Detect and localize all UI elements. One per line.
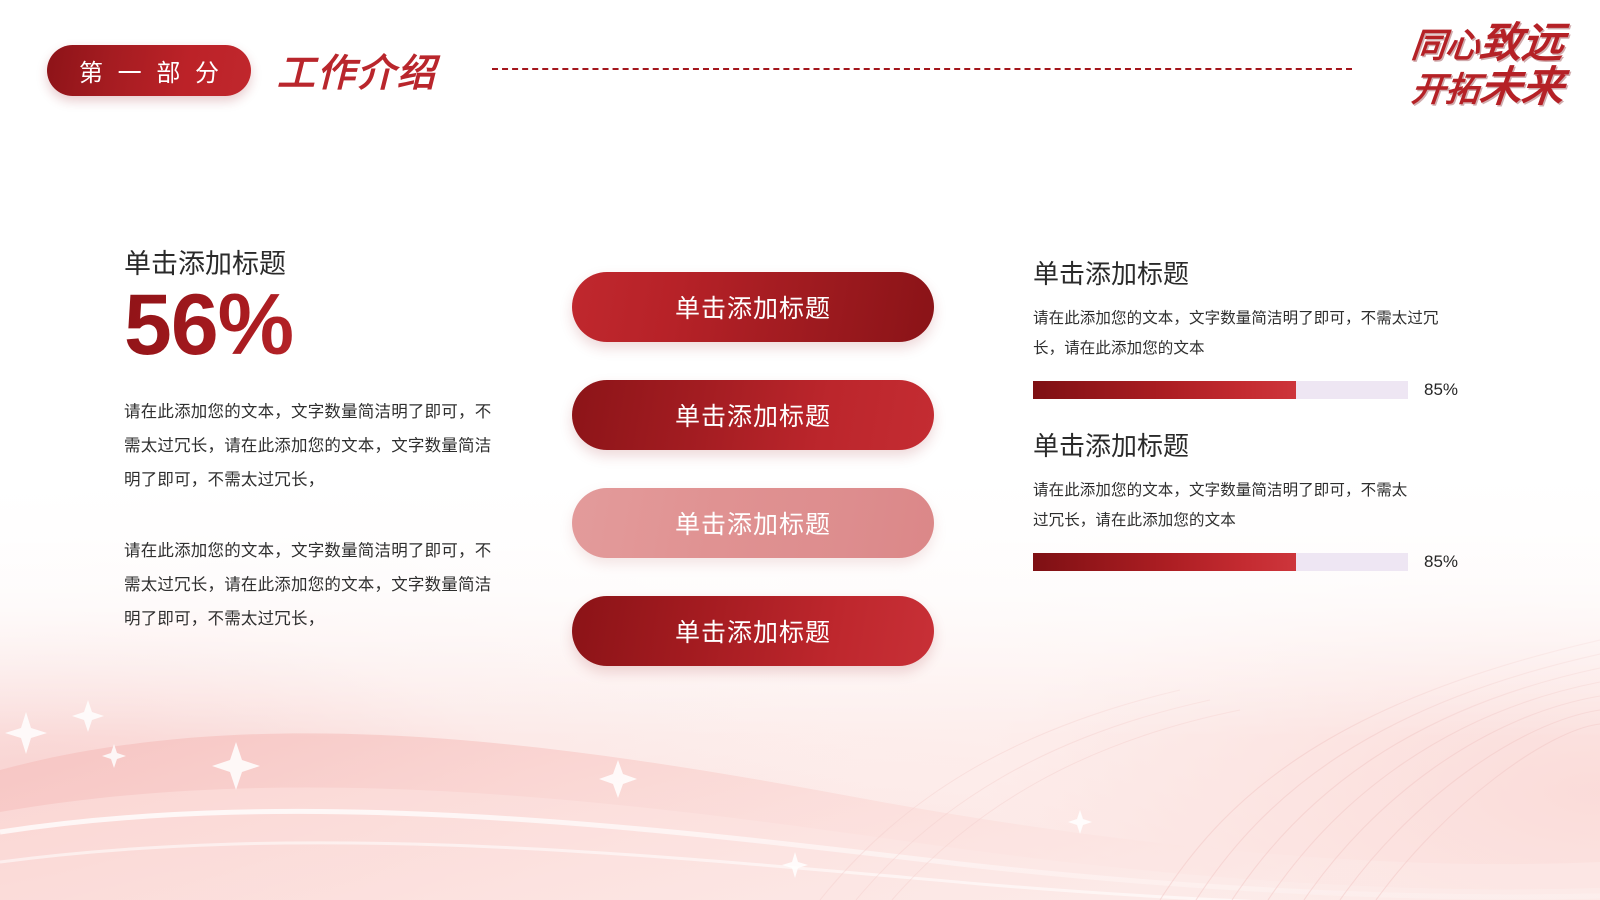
brand-slogan-line-2: 开拓未来 [1332,66,1566,108]
right-column: 单击添加标题 请在此添加您的文本，文字数量简洁明了即可，不需太过冗长，请在此添加… [1033,258,1461,572]
pill-button-1[interactable]: 单击添加标题 [572,272,934,342]
left-paragraph-2: 请在此添加您的文本，文字数量简洁明了即可，不需太过冗长，请在此添加您的文本，文字… [124,535,504,636]
pill-button-3[interactable]: 单击添加标题 [572,488,934,558]
pill-button-2-label: 单击添加标题 [675,397,831,433]
right-block-1: 单击添加标题 请在此添加您的文本，文字数量简洁明了即可，不需太过冗长，请在此添加… [1033,258,1461,400]
right-heading-1: 单击添加标题 [1033,258,1461,292]
right-paragraph-1: 请在此添加您的文本，文字数量简洁明了即可，不需太过冗长，请在此添加您的文本 [1033,304,1453,364]
left-stat-value: 56% [124,280,514,370]
progress-bar-2-fill [1033,553,1296,571]
progress-row-2: 85% [1033,552,1461,572]
left-column: 单击添加标题 56% 请在此添加您的文本，文字数量简洁明了即可，不需太过冗长，请… [124,248,514,637]
right-paragraph-2: 请在此添加您的文本，文字数量简洁明了即可，不需太过冗长，请在此添加您的文本 [1033,476,1408,536]
left-paragraph-1: 请在此添加您的文本，文字数量简洁明了即可，不需太过冗长，请在此添加您的文本，文字… [124,396,504,497]
progress-bar-2[interactable] [1033,553,1408,571]
pill-button-2[interactable]: 单击添加标题 [572,380,934,450]
progress-row-1: 85% [1033,380,1461,400]
pill-button-4-label: 单击添加标题 [675,613,831,649]
progress-bar-1-fill [1033,381,1296,399]
progress-bar-2-label: 85% [1424,552,1458,572]
slide-canvas: 第 一 部 分 工作介绍 同心致远 开拓未来 单击添加标题 56% 请在此添加您… [0,0,1600,900]
right-heading-2: 单击添加标题 [1033,430,1461,464]
slide-header: 第 一 部 分 工作介绍 同心致远 开拓未来 [0,0,1600,132]
progress-bar-1-label: 85% [1424,380,1458,400]
dashed-line-icon [492,68,1352,70]
section-badge-label: 第 一 部 分 [75,53,223,88]
page-title: 工作介绍 [277,42,437,97]
middle-button-list: 单击添加标题 单击添加标题 单击添加标题 单击添加标题 [572,272,934,666]
pill-button-4[interactable]: 单击添加标题 [572,596,934,666]
right-block-2: 单击添加标题 请在此添加您的文本，文字数量简洁明了即可，不需太过冗长，请在此添加… [1033,430,1461,572]
section-badge[interactable]: 第 一 部 分 [47,45,251,96]
progress-bar-1[interactable] [1033,381,1408,399]
brand-slogan-line-1: 同心致远 [1332,22,1566,64]
pill-button-3-label: 单击添加标题 [675,505,831,541]
brand-slogan: 同心致远 开拓未来 [1334,22,1564,126]
pill-button-1-label: 单击添加标题 [675,289,831,325]
